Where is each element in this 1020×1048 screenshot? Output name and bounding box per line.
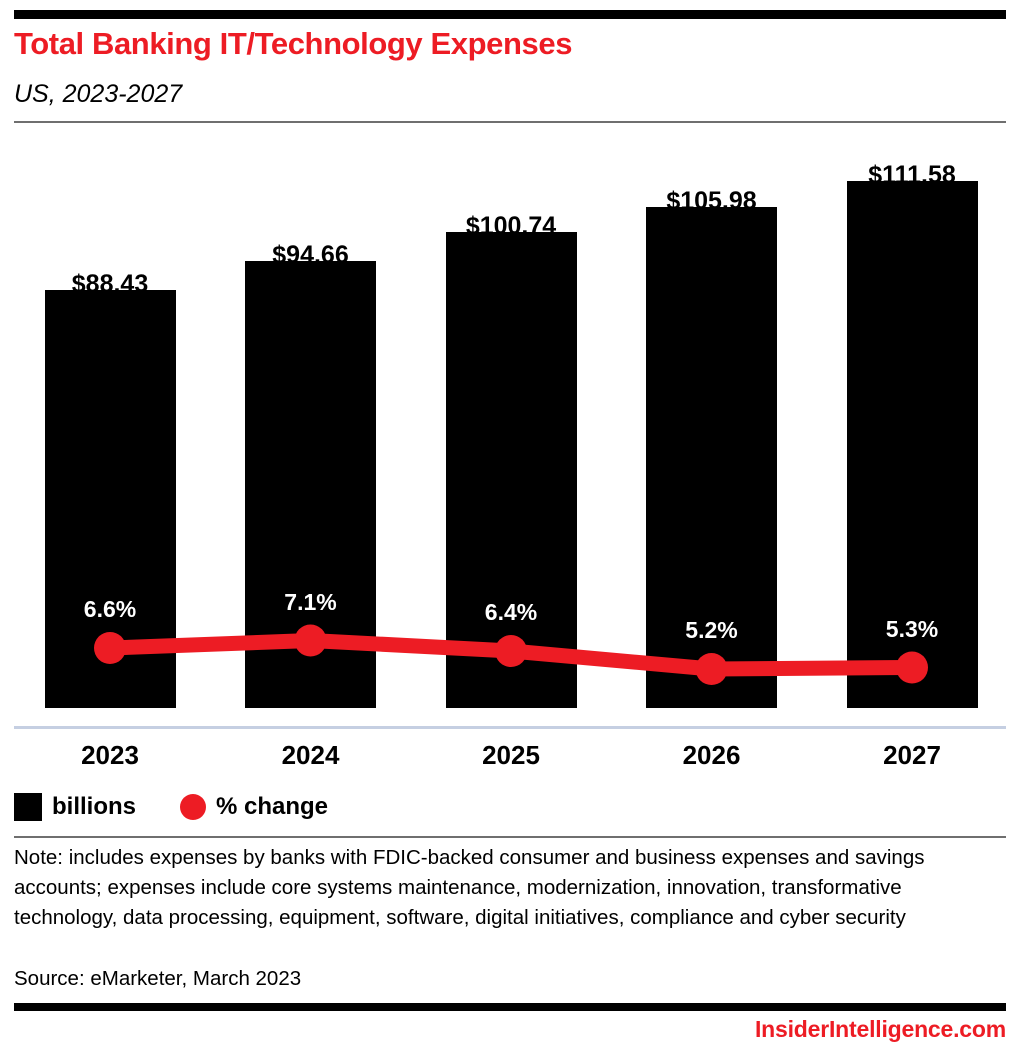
legend-square-icon	[14, 793, 42, 821]
x-tick-2023: 2023	[0, 740, 220, 771]
legend-divider	[14, 836, 1006, 838]
bar-value-label-2025: $100.74	[401, 212, 621, 241]
legend-item-percent-change: % change	[180, 793, 328, 821]
page-subtitle: US, 2023-2027	[14, 80, 182, 109]
percent-label-2023: 6.6%	[0, 596, 220, 623]
chart-plot-area: $88.43$94.66$100.74$105.98$111.586.6%7.1…	[0, 140, 1020, 730]
bar-2023	[45, 290, 176, 708]
bar-value-label-2026: $105.98	[602, 187, 822, 216]
x-tick-2026: 2026	[602, 740, 822, 771]
page-title: Total Banking IT/Technology Expenses	[14, 26, 572, 62]
percent-label-2027: 5.3%	[802, 616, 1020, 643]
x-axis-line	[14, 726, 1006, 729]
top-rule	[14, 10, 1006, 19]
legend-label-billions: billions	[52, 793, 136, 821]
bar-value-label-2023: $88.43	[0, 270, 220, 299]
bar-2024	[245, 261, 376, 708]
footer-brand: InsiderIntelligence.com	[755, 1016, 1006, 1043]
legend-label-percent-change: % change	[216, 793, 328, 821]
bar-value-label-2024: $94.66	[201, 241, 421, 270]
legend-circle-icon	[180, 794, 206, 820]
percent-label-2025: 6.4%	[401, 599, 621, 626]
chart-source: Source: eMarketer, March 2023	[14, 964, 301, 994]
x-tick-2024: 2024	[201, 740, 421, 771]
bottom-rule	[14, 1003, 1006, 1011]
bar-value-label-2027: $111.58	[802, 161, 1020, 190]
header-divider	[14, 121, 1006, 123]
x-tick-2025: 2025	[401, 740, 621, 771]
legend-item-billions: billions	[14, 793, 136, 821]
percent-label-2026: 5.2%	[602, 617, 822, 644]
chart-note: Note: includes expenses by banks with FD…	[14, 843, 989, 933]
x-tick-2027: 2027	[802, 740, 1020, 771]
percent-label-2024: 7.1%	[201, 589, 421, 616]
bar-2025	[446, 232, 577, 708]
